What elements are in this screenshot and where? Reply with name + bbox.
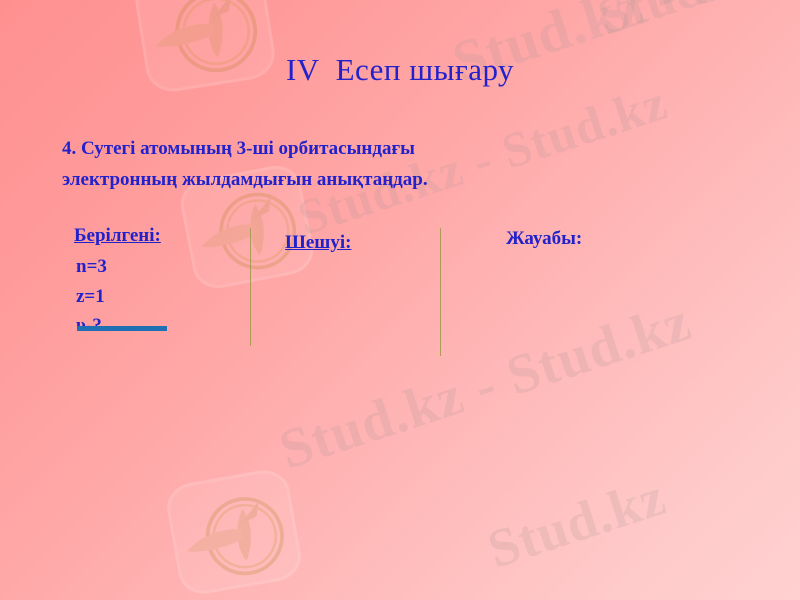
given-value-n: n=3 [76, 256, 107, 278]
column-divider [250, 228, 251, 346]
given-value-z: z=1 [76, 286, 105, 308]
answer-column-heading: Жауабы: [506, 228, 582, 250]
watermark-text: Stud.kz [480, 465, 673, 580]
column-divider [440, 228, 441, 356]
hummingbird-logo-watermark [163, 466, 305, 598]
problem-line: 4. Сутегі атомының 3-ші орбитасындағы [62, 133, 662, 164]
hummingbird-glyph [163, 466, 307, 600]
problem-statement: 4. Сутегі атомының 3-ші орбитасындағы эл… [62, 133, 662, 195]
slide-canvas: Stud.kz - Stud.kz Stud.kz - Stud.kz Stud… [0, 0, 800, 600]
watermark-layer: Stud.kz - Stud.kz Stud.kz - Stud.kz Stud… [0, 0, 800, 600]
page-title: IV Есеп шығару [0, 52, 800, 88]
given-column-heading: Берілгені: [74, 225, 161, 247]
logo-frame [163, 466, 305, 598]
problem-line: электронның жылдамдығын анықтаңдар. [62, 164, 662, 195]
watermark-text: Stud.kz - Stud.kz [272, 289, 699, 482]
solution-column-heading: Шешуі: [285, 232, 351, 254]
given-underline-rule [77, 326, 167, 331]
watermark-text: Stud.kz [591, 0, 777, 48]
